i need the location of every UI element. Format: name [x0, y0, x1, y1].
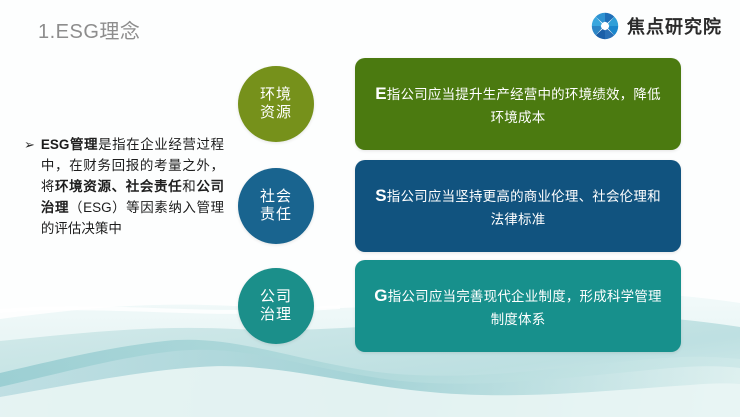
- circle-social[interactable]: 社会 责任: [238, 168, 314, 244]
- bar-initial-e: E: [375, 84, 387, 103]
- bar-social-text: S指公司应当坚持更高的商业伦理、社会伦理和法律标准: [369, 182, 667, 231]
- esg-row-social: 社会 责任 S指公司应当坚持更高的商业伦理、社会伦理和法律标准: [238, 160, 740, 252]
- bar-governance-text: G指公司应当完善现代企业制度，形成科学管理制度体系: [369, 282, 667, 331]
- circle-label-line1: 公司: [260, 288, 292, 306]
- bar-initial-s: S: [375, 186, 387, 205]
- esg-rows: 环境 资源 E指公司应当提升生产经营中的环境绩效，降低环境成本 社会 责任 S指…: [0, 0, 740, 417]
- esg-row-governance: 公司 治理 G指公司应当完善现代企业制度，形成科学管理制度体系: [238, 260, 740, 352]
- bar-governance-body: 指公司应当完善现代企业制度，形成科学管理制度体系: [388, 289, 662, 327]
- circle-label-line2: 治理: [260, 306, 292, 324]
- bar-social-body: 指公司应当坚持更高的商业伦理、社会伦理和法律标准: [387, 189, 661, 227]
- bar-environment-text: E指公司应当提升生产经营中的环境绩效，降低环境成本: [369, 80, 667, 129]
- bar-environment[interactable]: E指公司应当提升生产经营中的环境绩效，降低环境成本: [355, 58, 681, 150]
- bar-social[interactable]: S指公司应当坚持更高的商业伦理、社会伦理和法律标准: [355, 160, 681, 252]
- circle-label-line2: 责任: [260, 206, 292, 224]
- bar-governance[interactable]: G指公司应当完善现代企业制度，形成科学管理制度体系: [355, 260, 681, 352]
- esg-row-environment: 环境 资源 E指公司应当提升生产经营中的环境绩效，降低环境成本: [238, 58, 740, 150]
- bar-initial-g: G: [374, 286, 387, 305]
- circle-environment[interactable]: 环境 资源: [238, 66, 314, 142]
- circle-governance[interactable]: 公司 治理: [238, 268, 314, 344]
- circle-label-line1: 社会: [260, 188, 292, 206]
- slide-canvas: 1.ESG理念 焦点研究院: [0, 0, 740, 417]
- circle-label-line2: 资源: [260, 104, 292, 122]
- bar-environment-body: 指公司应当提升生产经营中的环境绩效，降低环境成本: [387, 87, 661, 125]
- circle-label-line1: 环境: [260, 86, 292, 104]
